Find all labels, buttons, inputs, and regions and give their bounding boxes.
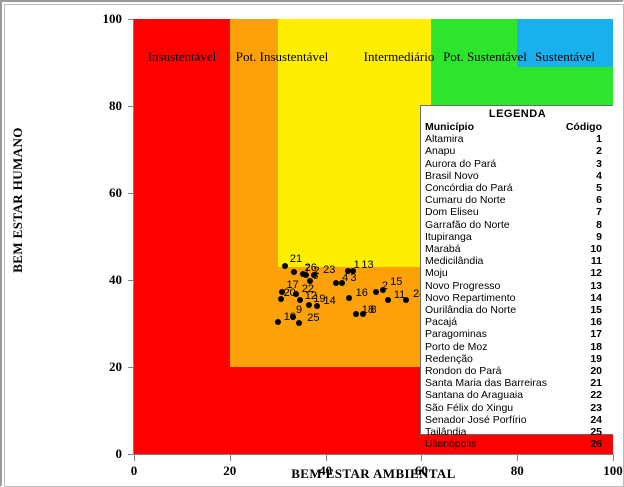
- data-point-label: 6: [312, 270, 318, 282]
- legend-codigo: 22: [561, 389, 610, 401]
- data-point-label: 13: [361, 259, 373, 271]
- legend-codigo: 8: [561, 219, 610, 231]
- legend-codigo: 9: [561, 231, 610, 243]
- legend-codigo: 26: [561, 438, 610, 450]
- data-point-label: 21: [290, 253, 302, 265]
- zone-label-sustentavel: Sustentável: [517, 49, 613, 65]
- legend-municipio: Ourilândia do Norte: [425, 304, 561, 316]
- legend-row: Altamira1: [425, 133, 610, 145]
- y-axis-tick: [128, 193, 134, 194]
- legend-row: Cumaru do Norte6: [425, 194, 610, 206]
- data-point: [296, 320, 302, 326]
- legend-row: Dom Eliseu7: [425, 206, 610, 218]
- data-point-label: 8: [370, 304, 376, 316]
- legend-row: Moju12: [425, 267, 610, 279]
- data-point: [333, 280, 339, 286]
- legend-municipio: Senador José Porfírio: [425, 414, 561, 426]
- data-point-label: 15: [390, 276, 402, 288]
- legend-codigo: 13: [561, 280, 610, 292]
- legend-header-municipio: Município: [425, 121, 561, 133]
- legend-municipio: Moju: [425, 267, 561, 279]
- legend-codigo: 15: [561, 304, 610, 316]
- legend-row: Pacajá16: [425, 316, 610, 328]
- legend-municipio: São Félix do Xingu: [425, 402, 561, 414]
- x-axis-tick: [613, 455, 614, 461]
- legend-municipio: Novo Progresso: [425, 280, 561, 292]
- legend-row: Itupiranga9: [425, 231, 610, 243]
- x-axis-tick: [134, 455, 135, 461]
- data-point-label: 16: [356, 287, 368, 299]
- legend-municipio: Tailândia: [425, 426, 561, 438]
- x-axis-tick: [326, 455, 327, 461]
- data-point-label: 23: [323, 264, 335, 276]
- legend-municipio: Dom Eliseu: [425, 206, 561, 218]
- legend-codigo: 24: [561, 414, 610, 426]
- legend-table: Município Código Altamira1Anapu2Aurora d…: [425, 121, 610, 450]
- legend-municipio: Santana do Araguaia: [425, 389, 561, 401]
- legend-row: Ulianópolis26: [425, 438, 610, 450]
- legend-row: Porto de Moz18: [425, 341, 610, 353]
- y-axis-tick: [128, 19, 134, 20]
- legend-row: Rondon do Pará20: [425, 365, 610, 377]
- x-axis-tick: [421, 455, 422, 461]
- legend-row: Novo Repartimento14: [425, 292, 610, 304]
- legend-codigo: 5: [561, 182, 610, 194]
- x-axis-tick: [230, 455, 231, 461]
- data-point-label: 10: [284, 311, 296, 323]
- legend-municipio: Porto de Moz: [425, 341, 561, 353]
- data-point: [282, 263, 288, 269]
- legend-codigo: 20: [561, 365, 610, 377]
- legend-row: Brasil Novo4: [425, 170, 610, 182]
- legend-codigo: 7: [561, 206, 610, 218]
- legend-municipio: Aurora do Pará: [425, 158, 561, 170]
- legend-row: Concórdia do Pará5: [425, 182, 610, 194]
- y-axis-tick-label: 0: [82, 446, 122, 462]
- legend-municipio: Paragominas: [425, 328, 561, 340]
- zone-label-insustentavel: Insustentável: [134, 49, 230, 65]
- legend-box: LEGENDA Município Código Altamira1Anapu2…: [420, 105, 613, 435]
- legend-codigo: 6: [561, 194, 610, 206]
- legend-codigo: 19: [561, 353, 610, 365]
- x-axis-title: BEM ESTAR AMBIENTAL: [134, 466, 613, 482]
- data-point-label: 9: [296, 304, 302, 316]
- y-axis-line: [133, 19, 134, 455]
- legend-codigo: 17: [561, 328, 610, 340]
- x-axis-tick: [517, 455, 518, 461]
- legend-row: Santana do Araguaia22: [425, 389, 610, 401]
- legend-municipio: Brasil Novo: [425, 170, 561, 182]
- data-point-label: 20: [284, 287, 296, 299]
- data-point: [373, 289, 379, 295]
- legend-row: Novo Progresso13: [425, 280, 610, 292]
- legend-codigo: 23: [561, 402, 610, 414]
- legend-row: Senador José Porfírio24: [425, 414, 610, 426]
- y-axis-title: BEM ESTAR HUMANO: [10, 100, 26, 300]
- data-point-label: 14: [323, 295, 335, 307]
- y-axis-tick: [128, 367, 134, 368]
- data-point: [339, 280, 345, 286]
- legend-codigo: 2: [561, 145, 610, 157]
- chart-window-frame: Insustentável Pot. Insustentável Interme…: [0, 0, 624, 487]
- data-point: [385, 297, 391, 303]
- legend-municipio: Medicilândia: [425, 255, 561, 267]
- y-axis-tick: [128, 280, 134, 281]
- plot-area: Insustentável Pot. Insustentável Interme…: [134, 19, 613, 454]
- legend-row: Redenção19: [425, 353, 610, 365]
- legend-municipio: Altamira: [425, 133, 561, 145]
- legend-municipio: Ulianópolis: [425, 438, 561, 450]
- data-point: [346, 295, 352, 301]
- legend-codigo: 11: [561, 255, 610, 267]
- legend-municipio: Marabá: [425, 243, 561, 255]
- legend-row: Ourilândia do Norte15: [425, 304, 610, 316]
- legend-municipio: Redenção: [425, 353, 561, 365]
- zone-label-pot-insustentavel: Pot. Insustentável: [218, 49, 346, 65]
- x-axis-line: [133, 454, 614, 455]
- y-axis-tick-label: 100: [82, 11, 122, 27]
- legend-row: Paragominas17: [425, 328, 610, 340]
- legend-codigo: 10: [561, 243, 610, 255]
- legend-municipio: Concórdia do Pará: [425, 182, 561, 194]
- legend-row: Santa Maria das Barreiras21: [425, 377, 610, 389]
- legend-codigo: 25: [561, 426, 610, 438]
- y-axis-tick-label: 40: [82, 272, 122, 288]
- legend-municipio: Anapu: [425, 145, 561, 157]
- legend-row: Medicilândia11: [425, 255, 610, 267]
- y-axis-tick-label: 60: [82, 185, 122, 201]
- data-point-label: 25: [307, 312, 319, 324]
- legend-codigo: 1: [561, 133, 610, 145]
- legend-municipio: Novo Repartimento: [425, 292, 561, 304]
- legend-row: Marabá10: [425, 243, 610, 255]
- legend-codigo: 21: [561, 377, 610, 389]
- legend-row: São Félix do Xingu23: [425, 402, 610, 414]
- legend-municipio: Rondon do Pará: [425, 365, 561, 377]
- legend-codigo: 18: [561, 341, 610, 353]
- legend-municipio: Pacajá: [425, 316, 561, 328]
- legend-codigo: 16: [561, 316, 610, 328]
- legend-municipio: Garrafão do Norte: [425, 219, 561, 231]
- legend-municipio: Itupiranga: [425, 231, 561, 243]
- legend-body: Altamira1Anapu2Aurora do Pará3Brasil Nov…: [425, 133, 610, 450]
- legend-codigo: 4: [561, 170, 610, 182]
- legend-row: Tailândia25: [425, 426, 610, 438]
- legend-municipio: Cumaru do Norte: [425, 194, 561, 206]
- data-point: [275, 319, 281, 325]
- y-axis-tick-label: 20: [82, 359, 122, 375]
- y-axis-tick: [128, 106, 134, 107]
- legend-row: Aurora do Pará3: [425, 158, 610, 170]
- legend-header-codigo: Código: [561, 121, 610, 133]
- y-axis-tick-label: 80: [82, 98, 122, 114]
- data-point-label: 3: [350, 272, 356, 284]
- legend-codigo: 14: [561, 292, 610, 304]
- legend-title: LEGENDA: [425, 108, 610, 121]
- legend-codigo: 12: [561, 267, 610, 279]
- legend-row: Anapu2: [425, 145, 610, 157]
- legend-codigo: 3: [561, 158, 610, 170]
- legend-municipio: Santa Maria das Barreiras: [425, 377, 561, 389]
- legend-header-row: Município Código: [425, 121, 610, 133]
- data-point: [297, 297, 303, 303]
- legend-row: Garrafão do Norte8: [425, 219, 610, 231]
